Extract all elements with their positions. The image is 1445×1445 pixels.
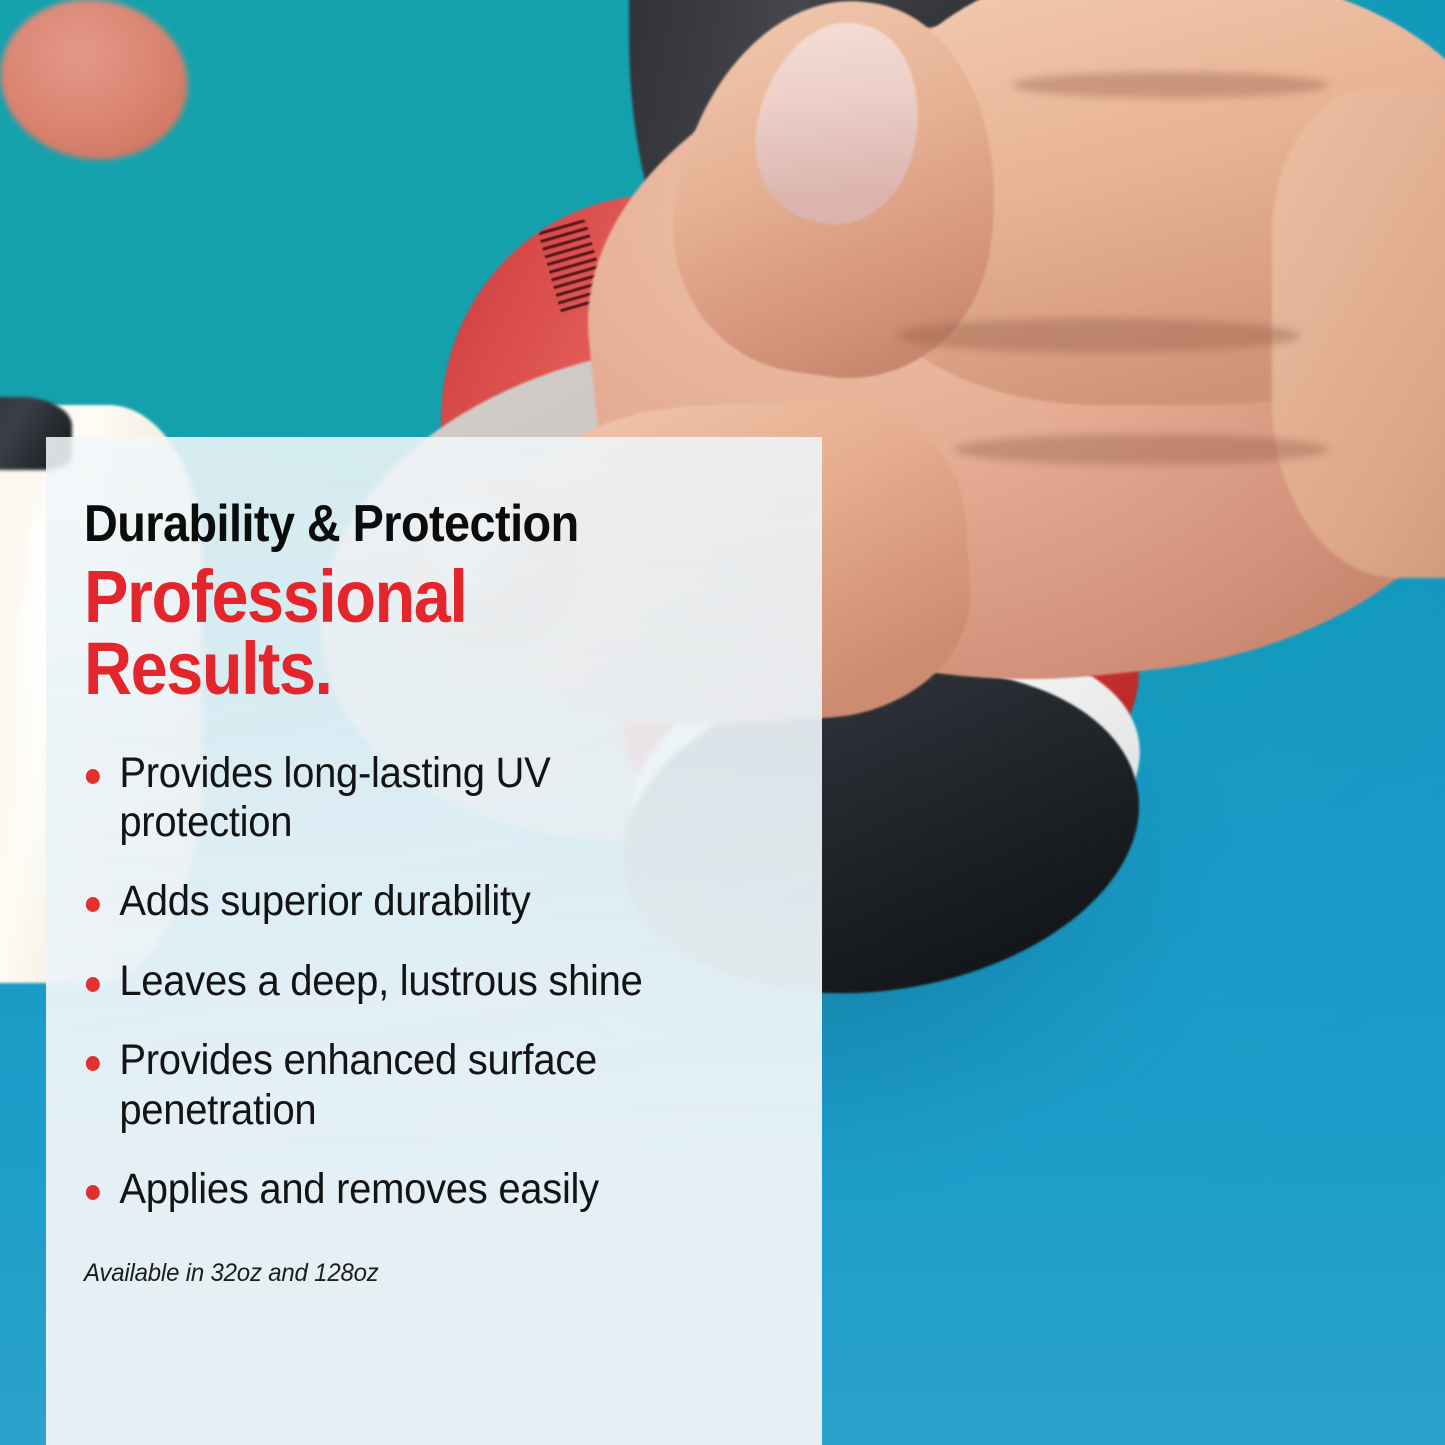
panel-kicker: Durability & Protection [84, 497, 712, 551]
bullet-dot-icon [86, 977, 100, 992]
list-item: Adds superior durability [84, 877, 715, 926]
list-item: Provides enhanced surface penetration [84, 1036, 715, 1135]
bullet-dot-icon [86, 1056, 100, 1071]
hand-crease-2 [954, 434, 1330, 466]
availability-footnote: Available in 32oz and 128oz [84, 1259, 754, 1288]
panel-headline-line-2: Results. [84, 633, 712, 705]
bullet-dot-icon [86, 897, 100, 912]
feature-overlay-panel: Durability & Protection Professional Res… [46, 437, 822, 1445]
list-item: Applies and removes easily [84, 1165, 715, 1214]
bullet-text: Provides enhanced surface penetration [119, 1036, 597, 1133]
list-item: Provides long-lasting UV protection [84, 749, 715, 848]
panel-headline: Professional Results. [84, 561, 712, 705]
panel-headline-line-1: Professional [84, 561, 712, 633]
feature-bullet-list: Provides long-lasting UV protection Adds… [84, 749, 782, 1215]
bullet-dot-icon [86, 1185, 100, 1200]
list-item: Leaves a deep, lustrous shine [84, 957, 715, 1006]
bullet-text: Provides long-lasting UV protection [119, 749, 550, 846]
product-feature-card: Durability & Protection Professional Res… [0, 0, 1445, 1445]
bullet-text: Applies and removes easily [119, 1165, 599, 1213]
bullet-dot-icon [86, 769, 100, 784]
hand-crease-1 [896, 318, 1301, 353]
bullet-text: Adds superior durability [119, 877, 530, 925]
bullet-text: Leaves a deep, lustrous shine [119, 957, 642, 1005]
